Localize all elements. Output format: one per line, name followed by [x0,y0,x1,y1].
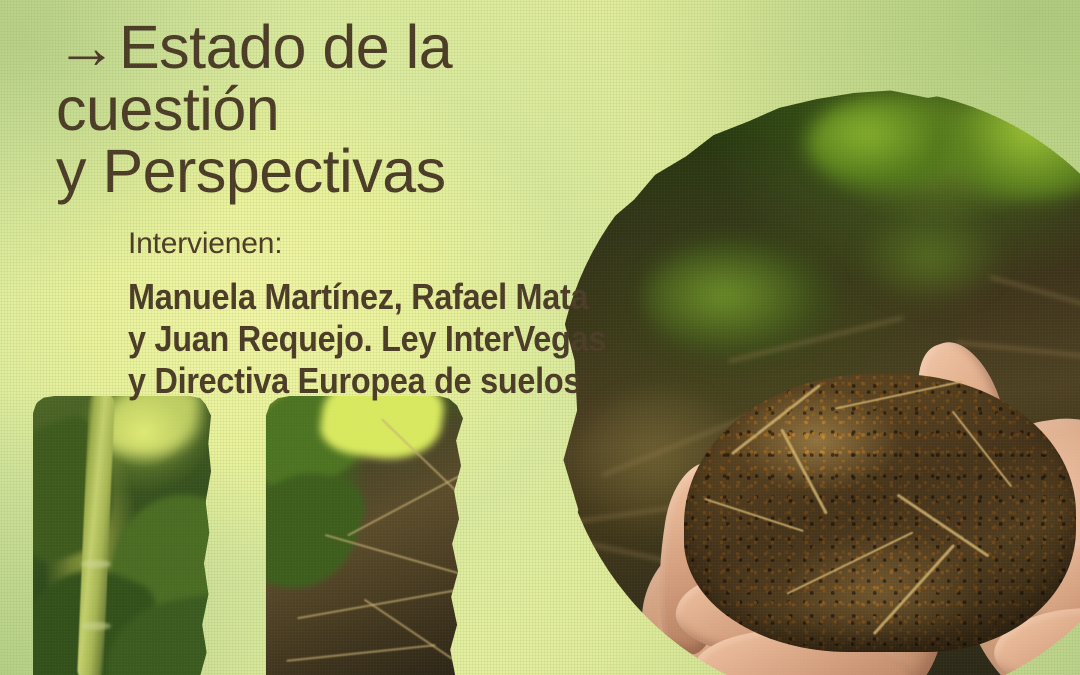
plant-stem-photo [33,396,211,675]
soil-panel-straw-4 [364,599,463,668]
soil-mound [684,374,1076,652]
poster-canvas: →Estado de la cuestión y Perspectivas In… [0,0,1080,675]
vegetation-blur-4 [856,208,1006,308]
stem-highlight [99,396,202,461]
arrow-right-icon: → [56,13,119,81]
soil-panel-straw-3 [297,587,463,620]
vegetation-blur-1 [806,98,956,188]
speakers-list-text: Manuela Martínez, Rafael Mata y Juan Req… [128,276,740,402]
plant-soil-photo [266,396,463,675]
soil-panel-straw-5 [286,644,435,662]
stem-node-2 [81,622,111,630]
text-content-block: →Estado de la cuestión y Perspectivas In… [56,16,676,402]
speakers-label: Intervienen: [128,227,676,261]
soil-grain-texture [684,374,1076,652]
page-title: →Estado de la cuestión y Perspectivas [56,16,676,203]
stem-node-1 [81,560,111,568]
